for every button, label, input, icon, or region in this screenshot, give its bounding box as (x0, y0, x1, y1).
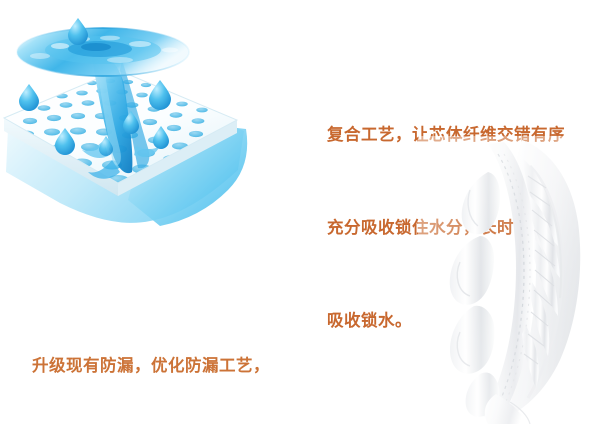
diaper-leak-guard-photo (418, 136, 600, 424)
product-feature-page: 复合工艺，让芯体纤维交错有序 充分吸收锁住水分，长时间均匀 吸收锁水。 升级现有… (0, 0, 600, 424)
water-droplet (68, 18, 88, 45)
water-absorbing-sheet-illustration (0, 0, 300, 250)
water-droplet (19, 84, 39, 111)
leakguard-copy-line-1: 升级现有防漏，优化防漏工艺， (32, 351, 270, 382)
photo-vignette (418, 136, 600, 424)
water-disc-ripple (17, 28, 189, 76)
leakguard-copy-block: 升级现有防漏，优化防漏工艺， 既保持防漏贴身舒适，有可帮助 预防测漏。防测漏，更… (32, 289, 270, 424)
